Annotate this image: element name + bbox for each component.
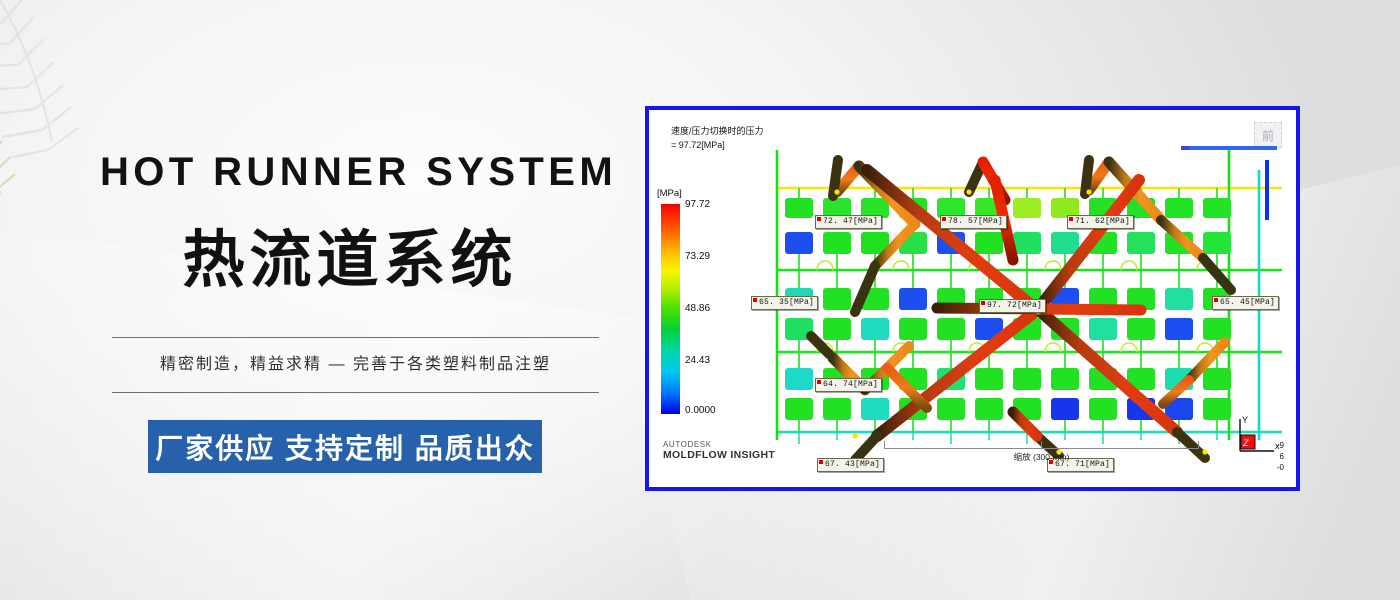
legend-body: 97.72 73.29 48.86 24.43 0.0000 bbox=[655, 204, 739, 414]
promo-banner: HOT RUNNER SYSTEM 热流道系统 精密制造，精益求精 — 完善于各… bbox=[0, 0, 1400, 600]
brand-line-moldflow: MOLDFLOW INSIGHT bbox=[663, 449, 775, 461]
scale-bar-line bbox=[884, 440, 1199, 449]
pressure-callout: 65. 45[MPa] bbox=[1212, 296, 1279, 310]
tagline-text: 精密制造，精益求精 — 完善于各类塑料制品注塑 bbox=[112, 350, 599, 380]
axis-num-2: -0 bbox=[1277, 462, 1284, 473]
legend-unit-label: [MPa] bbox=[657, 188, 739, 199]
scale-bar-label: 缩放 (300 mm) bbox=[884, 451, 1199, 463]
autodesk-moldflow-logo: AUTODESK MOLDFLOW INSIGHT bbox=[663, 440, 775, 461]
moldflow-simulation-image: 速度/压力切换时的压力 = 97.72[MPa] 前 [MPa] 97.72 7… bbox=[645, 106, 1300, 491]
axis-value-readout: -9 6 -0 bbox=[1277, 440, 1284, 473]
legend-tick-1: 73.29 bbox=[685, 251, 710, 262]
pressure-callout: 78. 57[MPa] bbox=[940, 215, 1007, 229]
svg-text:Y: Y bbox=[1242, 415, 1248, 425]
pressure-callout: 67. 43[MPa] bbox=[817, 458, 884, 472]
pressure-callout-peak: 97. 72[MPa] bbox=[979, 299, 1046, 313]
axis-num-0: -9 bbox=[1277, 440, 1284, 451]
divider-bottom bbox=[112, 392, 599, 393]
page-title-chinese: 热流道系统 bbox=[100, 228, 600, 293]
result-title-line-1: 速度/压力切换时的压力 bbox=[671, 126, 764, 136]
pressure-callout: 64. 74[MPa] bbox=[815, 378, 882, 392]
legend-tick-3: 24.43 bbox=[685, 355, 710, 366]
legend-tick-4: 0.0000 bbox=[685, 405, 716, 416]
divider-top bbox=[112, 337, 599, 338]
banner-text-panel: HOT RUNNER SYSTEM 热流道系统 精密制造，精益求精 — 完善于各… bbox=[0, 0, 640, 600]
pressure-callout: 72. 47[MPa] bbox=[815, 215, 882, 229]
result-title-line-2: = 97.72[MPa] bbox=[671, 140, 725, 150]
page-title-english: HOT RUNNER SYSTEM bbox=[100, 152, 600, 192]
brand-line-autodesk: AUTODESK bbox=[663, 440, 775, 449]
pressure-callout: 65. 35[MPa] bbox=[751, 296, 818, 310]
svg-text:Z: Z bbox=[1242, 438, 1249, 448]
cta-banner-button[interactable]: 厂家供应 支持定制 品质出众 bbox=[148, 420, 542, 473]
legend-tick-2: 48.86 bbox=[685, 303, 710, 314]
pressure-callout: 71. 62[MPa] bbox=[1067, 215, 1134, 229]
axis-num-1: 6 bbox=[1277, 451, 1284, 462]
legend-color-bar bbox=[661, 204, 680, 414]
simulation-canvas: 速度/压力切换时的压力 = 97.72[MPa] 前 [MPa] 97.72 7… bbox=[649, 110, 1296, 487]
axis-triad-icon: Z Y x -9 6 -0 bbox=[1230, 413, 1286, 475]
color-legend: [MPa] 97.72 73.29 48.86 24.43 0.0000 bbox=[655, 188, 739, 414]
scale-bar: 缩放 (300 mm) bbox=[884, 440, 1199, 463]
legend-tick-0: 97.72 bbox=[685, 199, 710, 210]
